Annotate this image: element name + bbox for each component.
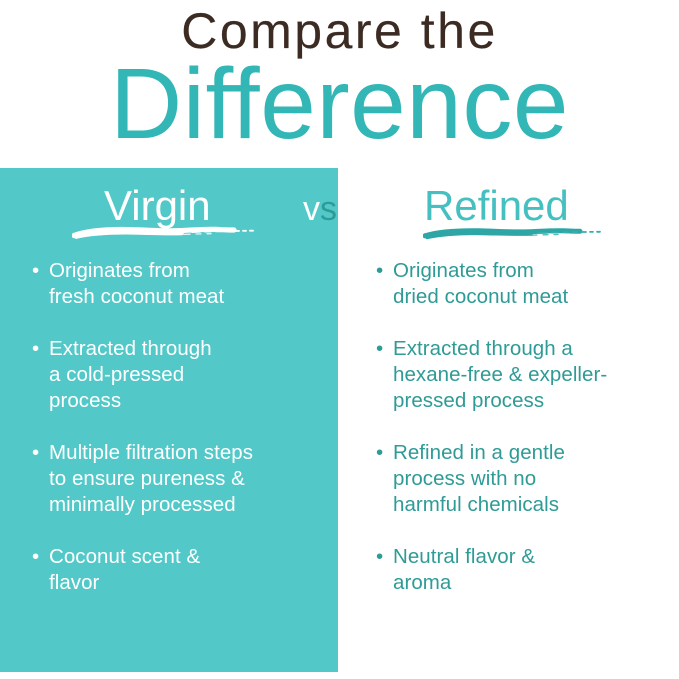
list-item: Neutral flavor & aroma [376, 544, 672, 596]
list-item: Originates from fresh coconut meat [32, 258, 332, 310]
page-title-line-2: Difference [0, 50, 679, 158]
list-item: Refined in a gentle process with no harm… [376, 440, 672, 518]
infographic-canvas: Compare the Difference Virgin vs Refined… [0, 0, 679, 679]
virgin-column-heading: Virgin [104, 183, 211, 229]
list-item: Multiple filtration steps to ensure pure… [32, 440, 332, 518]
list-item: Extracted through a hexane-free & expell… [376, 336, 672, 414]
list-item: Coconut scent & flavor [32, 544, 332, 596]
refined-column-heading: Refined [424, 183, 569, 229]
virgin-benefits-list: Originates from fresh coconut meat Extra… [32, 258, 332, 596]
virgin-brush-underline-icon [72, 224, 262, 240]
refined-brush-underline-icon [423, 225, 605, 241]
versus-label-s: s [320, 190, 337, 228]
refined-benefits-list: Originates from dried coconut meat Extra… [376, 258, 672, 596]
versus-label: vs [303, 189, 337, 229]
page-header: Compare the Difference [0, 0, 679, 168]
versus-label-v: v [303, 190, 320, 228]
list-item: Originates from dried coconut meat [376, 258, 672, 310]
list-item: Extracted through a cold-pressed process [32, 336, 332, 414]
